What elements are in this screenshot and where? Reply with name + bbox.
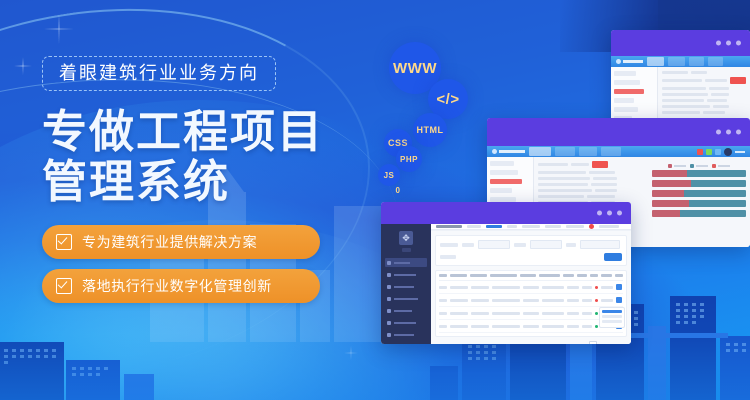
top-nav-item-active[interactable] — [486, 225, 502, 228]
main-content-front — [431, 224, 631, 344]
row-action-icon[interactable] — [616, 297, 622, 303]
nav-tab[interactable] — [647, 57, 664, 66]
window-titlebar-front — [381, 202, 631, 224]
tech-bubble-zero-label: 0 — [396, 186, 401, 195]
message-icon[interactable] — [706, 149, 712, 155]
bar-chart-middle — [652, 161, 746, 247]
nav-tab[interactable] — [689, 57, 704, 66]
sidebar-item[interactable] — [385, 318, 427, 327]
top-nav-item[interactable] — [522, 225, 540, 228]
checkbox-checked-icon — [56, 278, 72, 294]
nav-tab[interactable] — [668, 57, 685, 66]
window-dots-icon — [597, 211, 622, 216]
sidebar-item[interactable] — [385, 282, 427, 291]
legend-item — [668, 164, 686, 168]
sidebar-item[interactable] — [385, 270, 427, 279]
nav-tab[interactable] — [579, 147, 597, 156]
bell-icon[interactable] — [715, 149, 721, 155]
chart-bar — [652, 200, 746, 207]
nav-tab[interactable] — [601, 147, 621, 156]
sidebar-item[interactable] — [385, 294, 427, 303]
hero-bullet-1-label: 专为建筑行业提供解决方案 — [82, 232, 257, 252]
sidebar-subtitle — [402, 248, 411, 252]
title-line-1: 专做工程项目 — [42, 107, 342, 157]
table-row[interactable] — [439, 294, 623, 307]
tech-bubble-zero: 0 — [390, 182, 406, 198]
filter-bar[interactable] — [435, 235, 627, 266]
tech-bubble-www-label: WWW — [393, 60, 437, 77]
table-row[interactable] — [439, 281, 623, 294]
window-dots-icon — [716, 41, 741, 46]
hero-eyebrow: 着眼建筑行业业务方向 — [42, 56, 276, 91]
context-menu[interactable] — [599, 307, 625, 328]
status-badge — [595, 325, 598, 328]
nav-tab[interactable] — [708, 57, 723, 66]
search-input[interactable] — [580, 240, 620, 249]
window-titlebar-middle — [487, 118, 750, 146]
legend-item — [690, 164, 708, 168]
app-logo — [492, 149, 525, 154]
sidebar-item[interactable] — [385, 330, 427, 339]
tech-bubble-php-label: PHP — [400, 155, 418, 164]
pagination[interactable] — [589, 341, 627, 344]
tech-bubble-html-label: HTML — [417, 125, 444, 135]
filter-select[interactable] — [530, 240, 562, 249]
app-header-middle — [487, 146, 750, 157]
sidebar-item[interactable] — [385, 258, 427, 267]
chart-bar — [652, 210, 746, 217]
title-line-2: 管理系统 — [42, 157, 342, 207]
chart-bar — [652, 180, 746, 187]
nav-tab[interactable] — [555, 147, 575, 156]
tech-bubble-php: PHP — [396, 146, 422, 172]
danger-button[interactable] — [730, 77, 746, 84]
nav-tab[interactable] — [529, 147, 551, 156]
hero-copy: 着眼建筑行业业务方向 专做工程项目 管理系统 专为建筑行业提供解决方案 落地执行… — [42, 56, 342, 313]
sparkle-icon — [44, 14, 74, 44]
filter-select[interactable] — [478, 240, 510, 249]
status-badge — [595, 299, 598, 302]
page-title-label — [436, 225, 462, 228]
tech-bubble-js-label: JS — [384, 171, 395, 180]
hero-bullet-2[interactable]: 落地执行行业数字化管理创新 — [42, 269, 320, 303]
tech-bubble-code-label: </> — [436, 91, 459, 108]
avatar[interactable] — [724, 148, 732, 156]
breadcrumb — [431, 230, 631, 231]
top-nav-item[interactable] — [566, 225, 584, 228]
window-dots-icon — [716, 130, 741, 135]
table-row[interactable] — [439, 320, 623, 333]
chart-bar — [652, 170, 746, 177]
app-body-front: ✥ — [381, 224, 631, 344]
page-title: 专做工程项目 管理系统 — [42, 107, 342, 207]
sparkle-icon — [14, 57, 32, 75]
header-actions[interactable] — [697, 148, 745, 156]
window-titlebar-back — [611, 30, 750, 56]
alert-icon[interactable] — [697, 149, 703, 155]
checkbox-checked-icon — [56, 234, 72, 250]
user-menu[interactable] — [599, 225, 619, 228]
top-nav-item[interactable] — [507, 225, 517, 228]
sparkle-icon — [344, 346, 358, 360]
dashboard-window-front[interactable]: ✥ — [381, 202, 631, 344]
hero-bullet-1[interactable]: 专为建筑行业提供解决方案 — [42, 225, 320, 259]
notification-badge[interactable] — [589, 224, 594, 229]
chart-legend — [652, 164, 746, 168]
table-row[interactable] — [439, 307, 623, 320]
search-button[interactable] — [604, 253, 622, 261]
legend-item — [712, 164, 730, 168]
data-table — [435, 270, 627, 337]
username-label — [735, 151, 745, 153]
table-footer — [431, 337, 631, 344]
tech-bubble-html: HTML — [413, 113, 447, 147]
app-logo — [616, 59, 643, 64]
status-badge — [595, 312, 598, 315]
promo-banner: 着眼建筑行业业务方向 专做工程项目 管理系统 专为建筑行业提供解决方案 落地执行… — [0, 0, 750, 400]
sidebar-item[interactable] — [385, 306, 427, 315]
status-badge — [595, 286, 598, 289]
top-nav-item[interactable] — [545, 225, 561, 228]
hero-bullet-2-label: 落地执行行业数字化管理创新 — [82, 276, 272, 296]
sidebar-front[interactable]: ✥ — [381, 224, 431, 344]
danger-button[interactable] — [592, 161, 608, 168]
app-header-back — [611, 56, 750, 67]
hero-bullet-list: 专为建筑行业提供解决方案 落地执行行业数字化管理创新 — [42, 225, 342, 303]
top-nav-item[interactable] — [467, 225, 481, 228]
chart-bar — [652, 190, 746, 197]
app-logo-icon: ✥ — [399, 231, 413, 245]
row-action-icon[interactable] — [616, 284, 622, 290]
table-header-row — [439, 274, 623, 281]
